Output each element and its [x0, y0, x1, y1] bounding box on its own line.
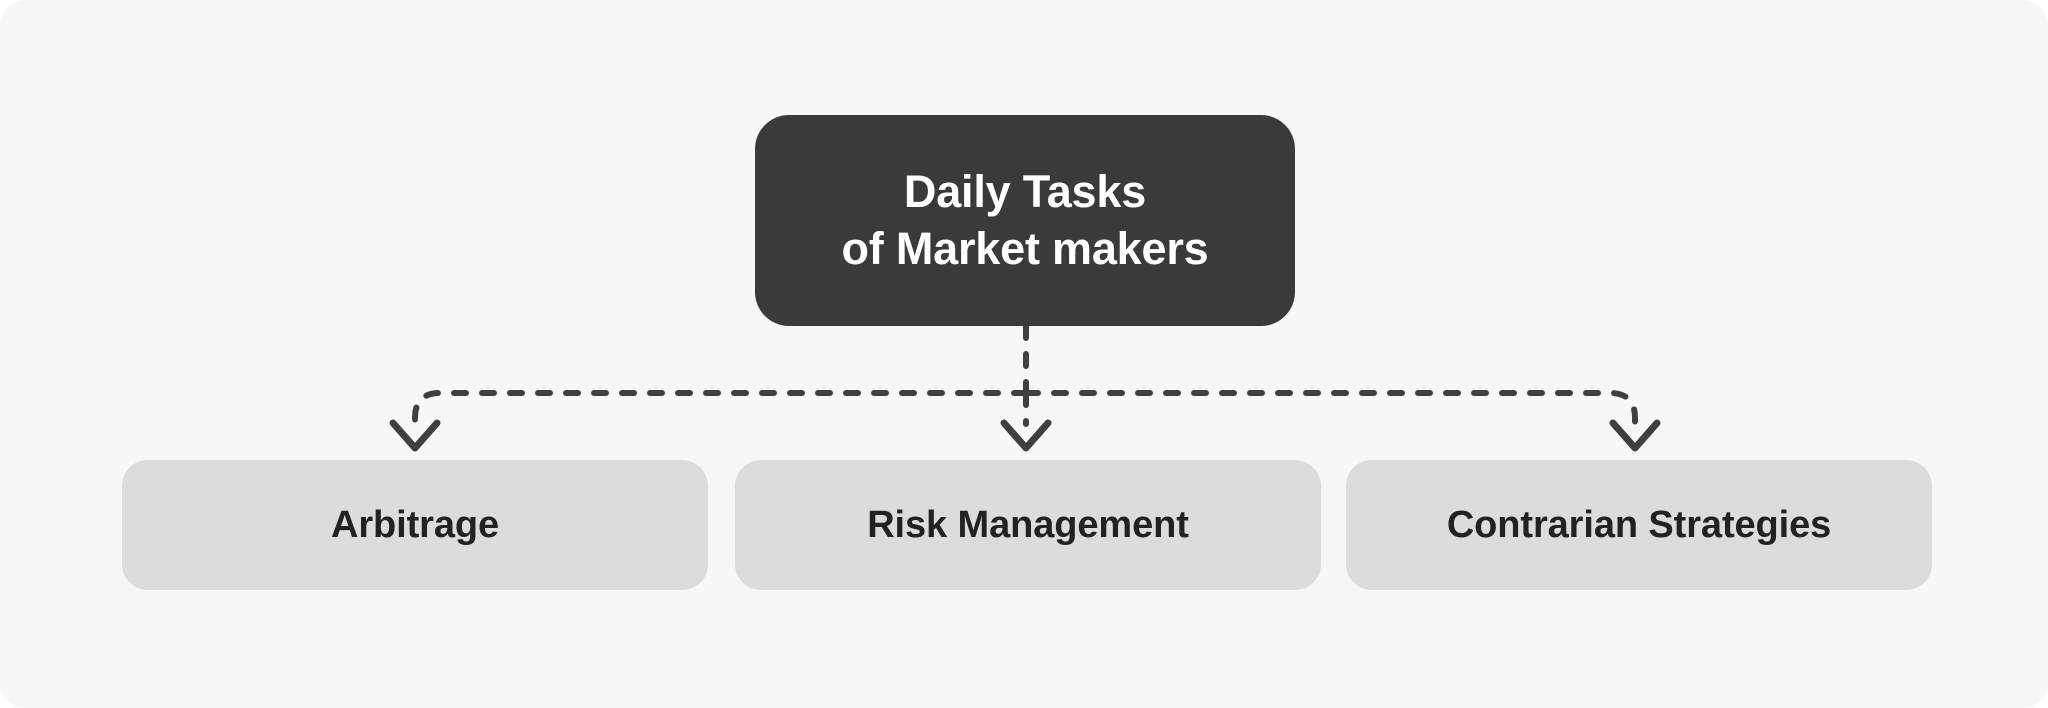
diagram-canvas: Daily Tasks of Market makers Arbitrage R… [0, 0, 2048, 708]
root-node-daily-tasks[interactable]: Daily Tasks of Market makers [755, 115, 1295, 326]
connector-layer [0, 0, 2048, 708]
child-node-arbitrage[interactable]: Arbitrage [122, 460, 708, 590]
child-node-label: Risk Management [867, 504, 1189, 547]
child-node-contrarian-strategies[interactable]: Contrarian Strategies [1346, 460, 1932, 590]
child-node-label: Contrarian Strategies [1447, 504, 1831, 547]
corner-mark [0, 694, 14, 708]
child-node-label: Arbitrage [331, 504, 499, 547]
arrowhead-left [393, 423, 437, 448]
arrowhead-right [1613, 423, 1657, 448]
child-node-risk-management[interactable]: Risk Management [735, 460, 1321, 590]
connector-branch-left [415, 393, 1026, 424]
root-node-label: Daily Tasks of Market makers [842, 164, 1209, 277]
arrowhead-center [1004, 423, 1048, 448]
connector-branch-right [1026, 393, 1635, 424]
